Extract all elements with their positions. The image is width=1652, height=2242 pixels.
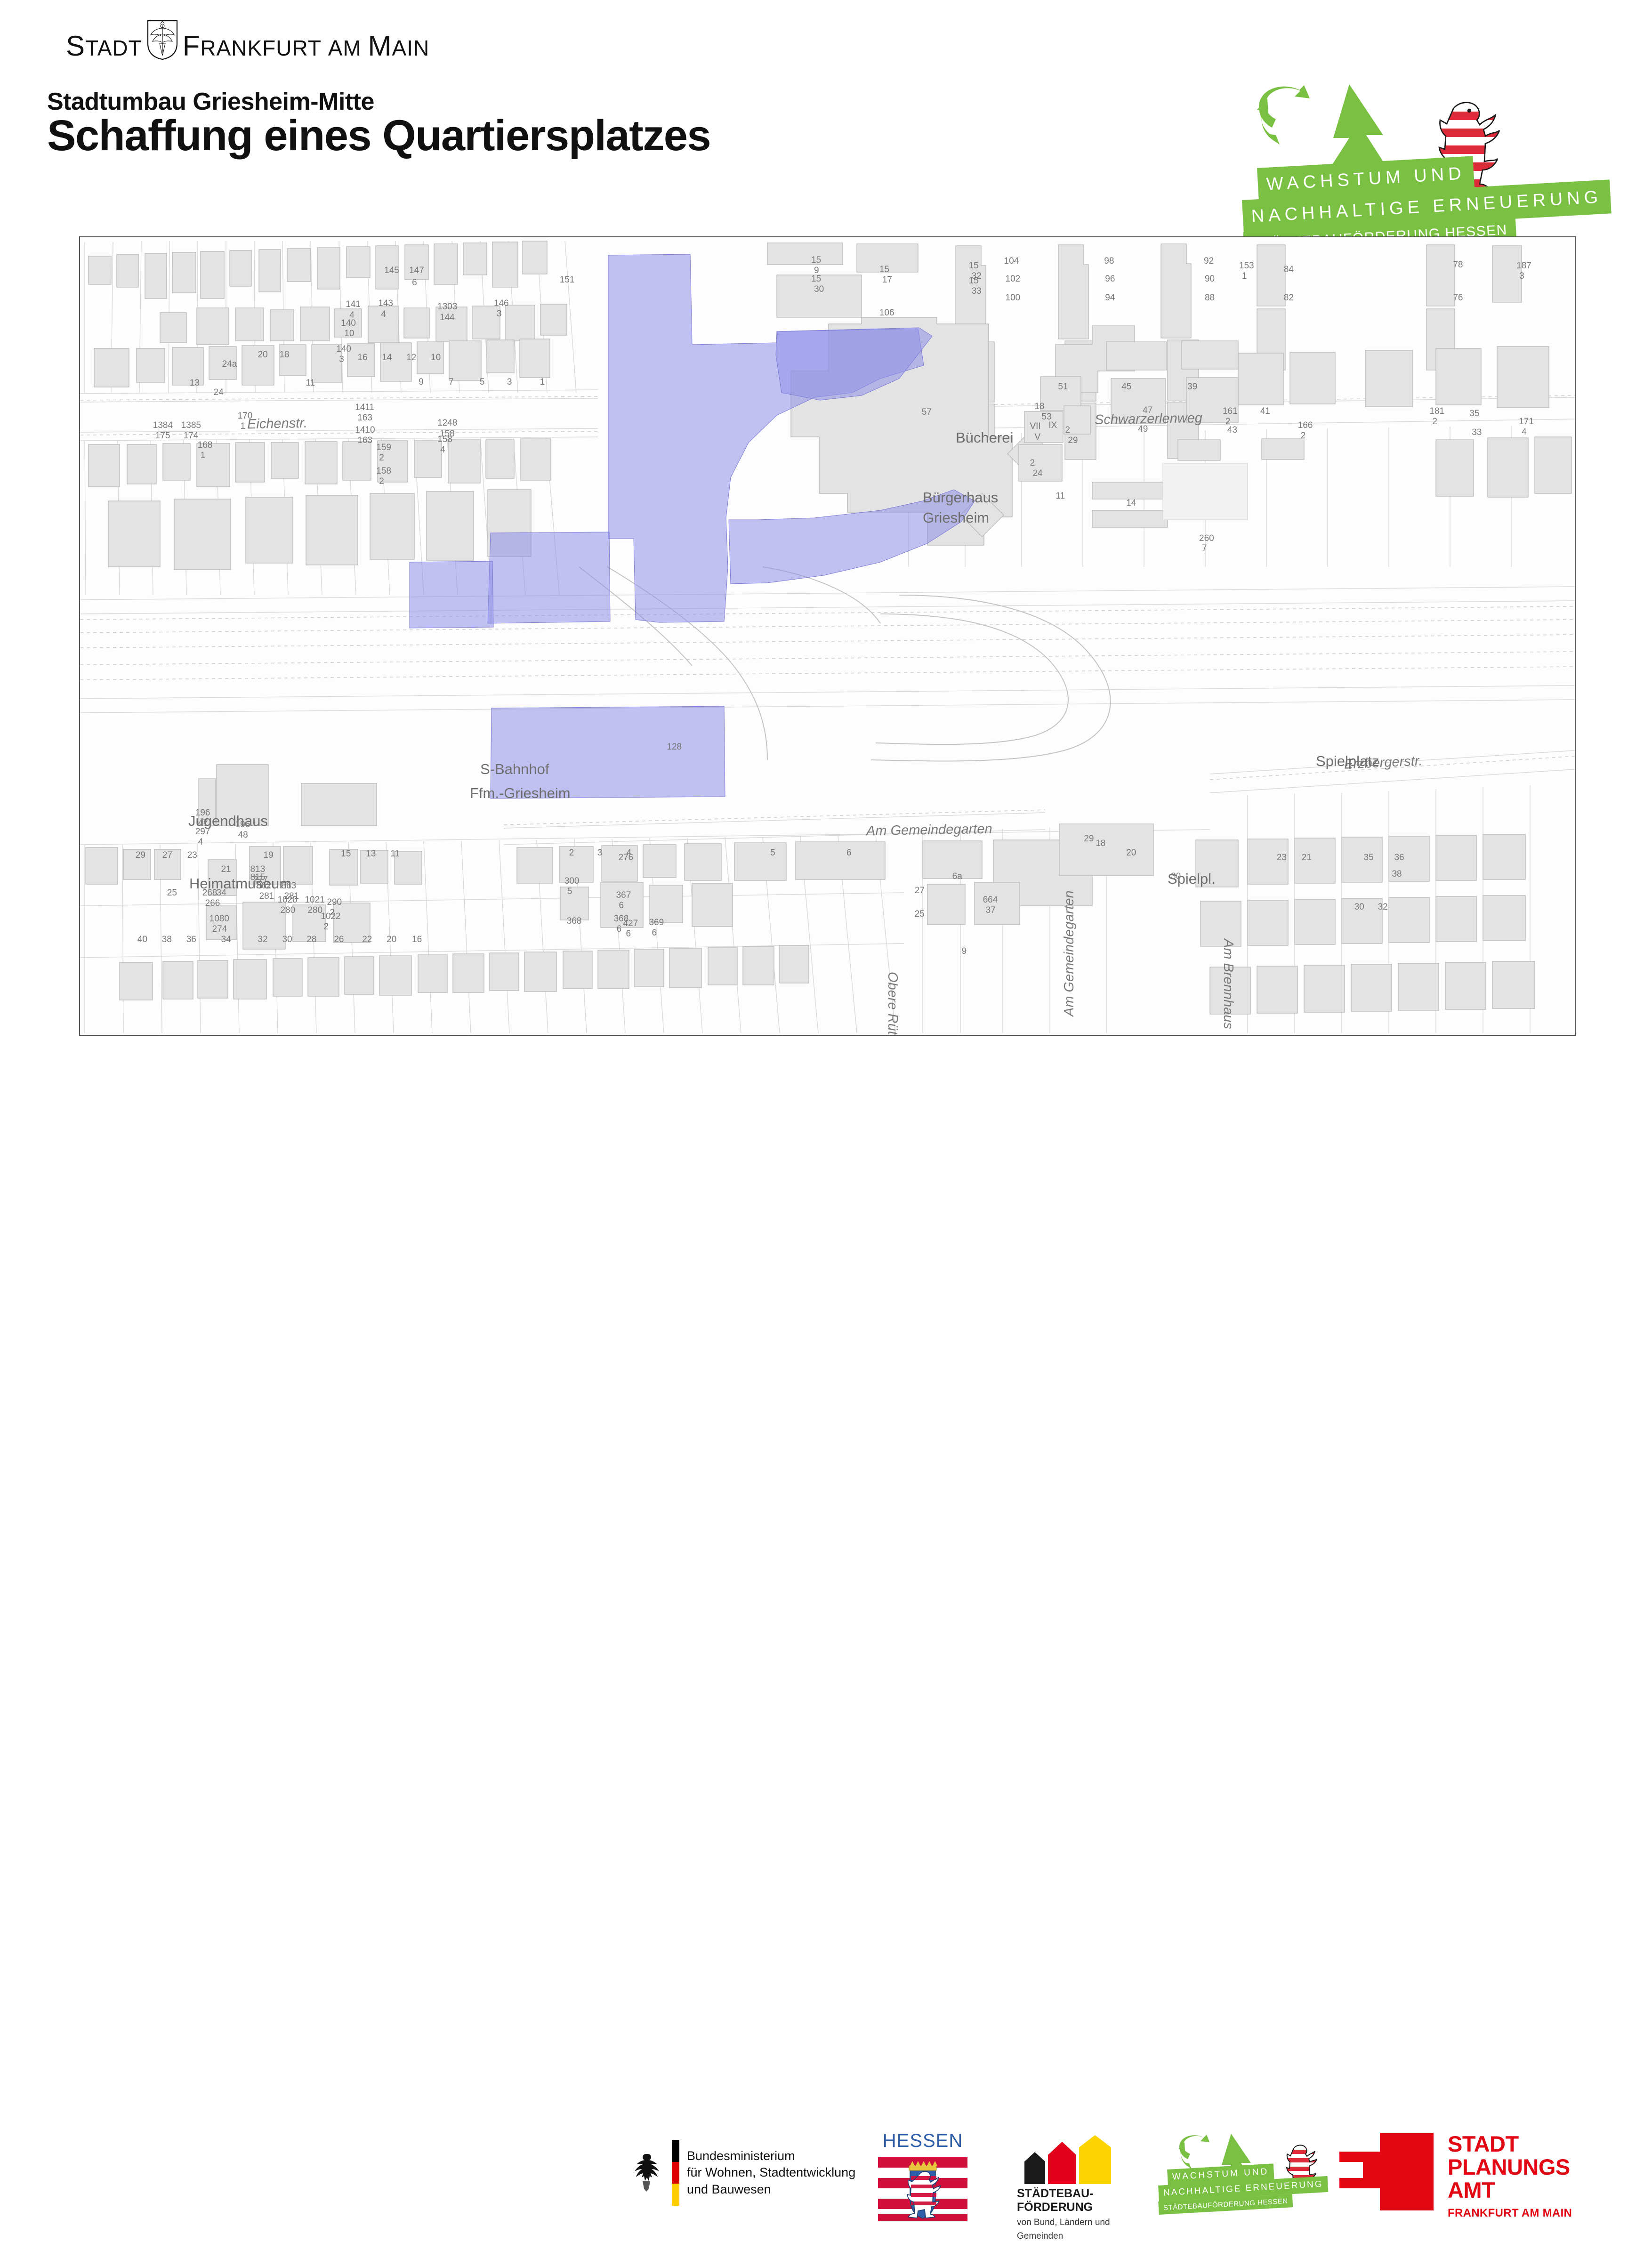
- cadastral-map[interactable]: Eichenstr. Schwarzerlenweg Am Gemeindega…: [79, 236, 1576, 1036]
- map-parcel-number: 34: [217, 888, 226, 898]
- map-parcel-number: 1385: [181, 420, 201, 431]
- map-parcel-number: 43: [1227, 425, 1237, 435]
- map-parcel-number: 2: [323, 922, 329, 932]
- map-parcel-number: 161: [1223, 406, 1238, 417]
- map-parcel-number: 196: [195, 808, 210, 818]
- map-parcel-number: 23: [1277, 853, 1287, 863]
- map-parcel-number: 128: [667, 742, 682, 752]
- map-parcel-number: 48: [238, 830, 248, 840]
- map-parcel-number: 166: [1298, 420, 1313, 431]
- map-parcel-number: 3: [497, 309, 502, 319]
- staedtebau-line3: von Bund, Ländern und: [1017, 2218, 1116, 2228]
- map-parcel-number: 102: [1006, 274, 1021, 284]
- map-parcel-number: 14: [1126, 498, 1136, 508]
- map-parcel-number: 1: [241, 421, 246, 432]
- map-parcel-number: 143: [378, 298, 393, 309]
- map-parcel-number: 260: [1199, 533, 1214, 544]
- map-parcel-number: 6: [846, 848, 852, 858]
- map-parcel-number: 2: [1030, 458, 1035, 468]
- map-parcel-number: 7: [449, 377, 454, 387]
- map-parcel-number: 21: [221, 864, 231, 875]
- map-parcel-number: 175: [155, 431, 170, 441]
- map-parcel-number: 38: [162, 935, 172, 945]
- street-label-obere-ruetzelstr: Obere Rützelstr.: [885, 972, 900, 1036]
- map-parcel-number: 7: [1202, 543, 1207, 554]
- map-parcel-number: 25: [167, 888, 177, 898]
- map-parcel-number: 18: [1034, 402, 1044, 412]
- map-parcel-number: 280: [307, 905, 322, 916]
- map-parcel-number: 151: [560, 275, 575, 285]
- map-parcel-number: 187: [1516, 261, 1531, 271]
- map-parcel-number: 35: [1469, 409, 1479, 419]
- map-parcel-number: 6: [617, 924, 622, 935]
- map-parcel-number: 104: [1004, 256, 1019, 266]
- map-parcel-number: 15: [969, 276, 979, 286]
- staedtebau-line2: FÖRDERUNG: [1017, 2201, 1116, 2214]
- map-parcel-number: 57: [922, 407, 932, 418]
- map-parcel-number: 22: [362, 935, 372, 945]
- map-parcel-number: 94: [1105, 293, 1115, 303]
- map-parcel-number: 24: [214, 387, 224, 398]
- map-parcel-number: 30: [1171, 871, 1181, 882]
- map-parcel-number: 51: [1058, 382, 1068, 392]
- map-parcel-number: 28: [306, 935, 316, 945]
- map-parcel-number: 32: [258, 935, 268, 945]
- map-parcel-number: 1410: [355, 425, 375, 435]
- map-parcel-number: 276: [619, 853, 634, 863]
- map-parcel-number: 2: [379, 453, 384, 463]
- map-parcel-number: 2: [379, 476, 384, 487]
- hessen-wordmark: HESSEN: [878, 2130, 967, 2152]
- map-parcel-number: 4: [198, 837, 203, 847]
- map-parcel-number: 1080: [210, 914, 229, 924]
- map-parcel-number: 39: [1187, 382, 1197, 392]
- map-parcel-number: 96: [1105, 274, 1115, 284]
- map-parcel-number: 2: [569, 848, 574, 858]
- three-houses-icon: [1017, 2135, 1116, 2185]
- map-parcel-number: 90: [1205, 274, 1215, 284]
- map-parcel-number: 23: [187, 850, 197, 861]
- map-parcel-number: 15: [341, 849, 351, 859]
- map-parcel-number: 4: [440, 445, 445, 455]
- map-parcel-number: 1021: [305, 895, 324, 905]
- map-parcel-number: 9: [419, 377, 424, 387]
- map-parcel-number: 367: [616, 890, 631, 901]
- map-parcel-number: 13: [190, 378, 200, 388]
- map-parcel-number: 174: [184, 431, 199, 441]
- map-parcel-number: 3: [1519, 271, 1524, 282]
- bundesadler-icon: [629, 2150, 664, 2195]
- city-logo: STADT FRANKFURT AM MAIN: [66, 20, 429, 60]
- map-parcel-number: 21: [1302, 853, 1312, 863]
- poi-s-bahnhof: S-Bahnhof: [480, 761, 549, 778]
- map-parcel-number: 6: [652, 928, 657, 938]
- map-parcel-number: 6: [412, 278, 417, 288]
- map-parcel-number: 5: [480, 377, 485, 387]
- map-parcel-number: 141: [346, 299, 361, 310]
- map-parcel-number: 27: [162, 850, 172, 861]
- city-logo-text-right: FRANKFURT AM MAIN: [183, 32, 430, 60]
- map-parcel-number: 19: [264, 850, 274, 861]
- bmwsb-text: Bundesministerium für Wohnen, Stadtentwi…: [687, 2148, 855, 2197]
- map-parcel-number: 20: [258, 350, 268, 360]
- map-parcel-number: 3: [597, 848, 603, 858]
- map-parcel-number: 6a: [952, 871, 962, 882]
- map-parcel-number: 181: [1429, 406, 1444, 417]
- map-parcel-number: 6: [626, 929, 631, 939]
- city-logo-text-left: STADT: [66, 32, 142, 60]
- map-parcel-number: 27: [915, 886, 925, 896]
- map-parcel-number: 4: [381, 309, 386, 320]
- wachstum-logo-footer: WACHSTUM UND NACHHALTIGE ERNEUERUNG STÄD…: [1156, 2133, 1368, 2220]
- map-parcel-number: 49: [1138, 424, 1148, 435]
- map-parcel-number: 12: [406, 353, 416, 363]
- map-parcel-number: 34: [221, 935, 231, 945]
- map-parcel-number: 5: [567, 887, 572, 897]
- poi-buecherei: Bücherei: [956, 429, 1013, 446]
- map-parcel-number: 266: [205, 898, 220, 909]
- poi-ffm-griesheim: Ffm.-Griesheim: [470, 785, 571, 802]
- map-parcel-number: 1: [540, 377, 545, 387]
- map-parcel-number: 145: [384, 266, 399, 276]
- poi-buergerhaus: Bürgerhaus: [923, 489, 998, 506]
- map-parcel-number: 368: [567, 916, 582, 927]
- map-parcel-number: 427: [623, 919, 638, 929]
- map-parcel-number: 369: [649, 918, 664, 928]
- map-parcel-number: 25: [915, 909, 925, 919]
- map-parcel-number: 16: [357, 353, 367, 363]
- map-parcel-number: 10: [431, 353, 441, 363]
- map-parcel-number: 29: [1084, 834, 1094, 844]
- map-parcel-number: 297: [195, 827, 210, 837]
- map-parcel-number: 13: [366, 849, 376, 859]
- staedtebau-line4: Gemeinden: [1017, 2231, 1116, 2242]
- map-parcel-number: 33: [972, 286, 982, 297]
- staedtebau-line1: STÄDTEBAU-: [1017, 2187, 1116, 2201]
- map-parcel-number: 100: [1006, 293, 1021, 303]
- map-parcel-number: 268: [202, 888, 218, 898]
- map-parcel-number: 15: [811, 274, 821, 284]
- bundesministerium-logo: Bundesministerium für Wohnen, Stadtentwi…: [629, 2140, 855, 2206]
- map-parcel-number: 1022: [321, 911, 340, 922]
- map-parcel-number: 140: [336, 344, 351, 355]
- map-parcel-number: 140: [341, 318, 356, 329]
- map-parcel-number: 147: [409, 266, 424, 276]
- map-parcel-number: 78: [1453, 260, 1463, 270]
- map-parcel-number: 1: [1242, 271, 1247, 282]
- poi-buergerhaus-griesheim: Griesheim: [923, 509, 989, 526]
- map-parcel-number: 24a: [222, 359, 237, 370]
- street-label-am-brennhaus: Am Brennhaus: [1220, 939, 1236, 1029]
- map-parcel-number: 1248: [437, 418, 457, 428]
- map-parcel-number: 863: [281, 881, 296, 891]
- map-parcel-number: 15: [811, 255, 821, 266]
- stadtplanungsamt-mark-icon: [1339, 2133, 1434, 2210]
- map-parcel-number: 11: [306, 378, 315, 388]
- map-parcel-number: 15: [969, 261, 979, 271]
- map-parcel-number: 36: [186, 935, 196, 945]
- map-parcel-number: 92: [1204, 256, 1214, 266]
- map-parcel-number: 36: [1394, 853, 1404, 863]
- map-parcel-number: 274: [212, 924, 227, 935]
- map-parcel-number: 30: [1354, 902, 1364, 912]
- map-parcel-number: 815: [250, 872, 266, 883]
- stadtplanungsamt-text: STADT PLANUNGS AMT FRANKFURT AM MAIN: [1448, 2133, 1572, 2220]
- map-parcel-number: 3: [339, 355, 344, 365]
- hessen-logo: HESSEN: [878, 2130, 967, 2225]
- map-parcel-number: 84: [1284, 265, 1294, 275]
- map-parcel-number: 35: [1364, 853, 1374, 863]
- map-parcel-number: 281: [259, 891, 274, 902]
- map-parcel-number: 4: [1522, 427, 1527, 437]
- map-parcel-number: 32: [1378, 902, 1388, 912]
- map-parcel-number: 11: [390, 849, 400, 859]
- map-parcel-number: 2: [1065, 425, 1070, 435]
- map-parcel-number: 10: [344, 329, 354, 339]
- map-parcel-number: 30: [814, 284, 824, 295]
- map-parcel-number: 6: [619, 901, 624, 911]
- map-parcel-number: 76: [1453, 293, 1463, 303]
- map-parcel-number: 153: [1239, 261, 1254, 271]
- staedtebaufoerderung-logo: STÄDTEBAU- FÖRDERUNG von Bund, Ländern u…: [1017, 2135, 1116, 2242]
- map-parcel-number: 2: [1301, 431, 1306, 441]
- map-parcel-number: 3: [507, 377, 512, 387]
- map-vector-layer: [80, 237, 1575, 1035]
- german-flag-bar-icon: [672, 2140, 679, 2206]
- map-parcel-number: 300: [564, 876, 580, 887]
- page-title: Schaffung eines Quartiersplatzes: [47, 113, 710, 159]
- map-parcel-number: 16: [412, 935, 422, 945]
- footer-logos: Bundesministerium für Wohnen, Stadtentwi…: [0, 1062, 1652, 1168]
- map-parcel-number: 29: [1068, 435, 1078, 446]
- street-label-eichenstr: Eichenstr.: [247, 416, 308, 433]
- map-parcel-number: 280: [280, 905, 295, 916]
- street-label-am-gemeindegarten: Am Gemeindegarten: [866, 822, 992, 839]
- street-label-am-gemeindegarten-vertical: Am Gemeindegarten: [1062, 890, 1077, 1016]
- map-parcel-number: 24: [1032, 468, 1042, 479]
- hessen-coat-of-arms-icon: [878, 2155, 967, 2222]
- map-parcel-number: 163: [357, 413, 372, 423]
- map-parcel-number: 1384: [153, 420, 173, 431]
- map-parcel-number: 38: [1392, 869, 1402, 879]
- map-parcel-number: 18: [279, 350, 289, 360]
- map-parcel-number: 170: [238, 411, 253, 421]
- map-parcel-number: V: [1034, 432, 1040, 443]
- map-parcel-number: 40: [137, 935, 147, 945]
- map-parcel-number: 9: [962, 946, 967, 957]
- map-parcel-number: 1: [201, 451, 206, 461]
- map-parcel-number: 196: [235, 820, 250, 830]
- map-parcel-number: 281: [284, 891, 299, 902]
- map-parcel-number: IX: [1048, 420, 1057, 431]
- map-parcel-number: 144: [440, 313, 455, 323]
- stadtplanungsamt-logo: STADT PLANUNGS AMT FRANKFURT AM MAIN: [1339, 2133, 1572, 2220]
- map-parcel-number: 88: [1205, 293, 1215, 303]
- map-parcel-number: 159: [376, 443, 391, 453]
- map-parcel-number: 82: [1284, 293, 1294, 303]
- map-parcel-number: 2: [1432, 417, 1437, 427]
- map-parcel-number: 290: [327, 897, 342, 908]
- map-parcel-number: 664: [983, 895, 998, 905]
- map-parcel-number: 171: [1519, 417, 1534, 427]
- map-parcel-number: 158: [437, 435, 452, 445]
- map-parcel-number: 47: [1143, 405, 1152, 416]
- map-parcel-number: 37: [986, 905, 996, 916]
- map-parcel-number: 20: [387, 935, 396, 945]
- map-parcel-number: 98: [1104, 256, 1114, 266]
- map-parcel-number: 20: [1126, 848, 1136, 858]
- map-parcel-number: VII: [1030, 421, 1040, 432]
- poi-spielplatz: Spielplatz: [1316, 753, 1379, 770]
- map-parcel-number: 5: [770, 848, 775, 858]
- map-parcel-number: 1303: [437, 302, 457, 312]
- map-parcel-number: 146: [494, 298, 509, 309]
- map-parcel-number: 17: [882, 275, 892, 285]
- map-parcel-number: 14: [382, 353, 392, 363]
- map-parcel-number: 29: [136, 850, 145, 861]
- map-parcel-number: 26: [334, 935, 344, 945]
- map-parcel-number: 106: [879, 308, 894, 318]
- map-parcel-number: 168: [198, 440, 213, 451]
- map-parcel-number: 158: [376, 466, 391, 476]
- frankfurt-eagle-crest-icon: [147, 20, 178, 60]
- map-parcel-number: 18: [1096, 839, 1105, 849]
- map-parcel-number: 11: [1056, 491, 1065, 501]
- map-parcel-number: 163: [357, 435, 372, 446]
- map-parcel-number: 15: [879, 265, 889, 275]
- map-parcel-number: 1411: [355, 403, 374, 413]
- map-parcel-number: 33: [1472, 427, 1482, 438]
- map-parcel-number: 30: [282, 935, 292, 945]
- map-parcel-number: 41: [1260, 406, 1270, 417]
- map-parcel-number: 45: [1121, 382, 1131, 392]
